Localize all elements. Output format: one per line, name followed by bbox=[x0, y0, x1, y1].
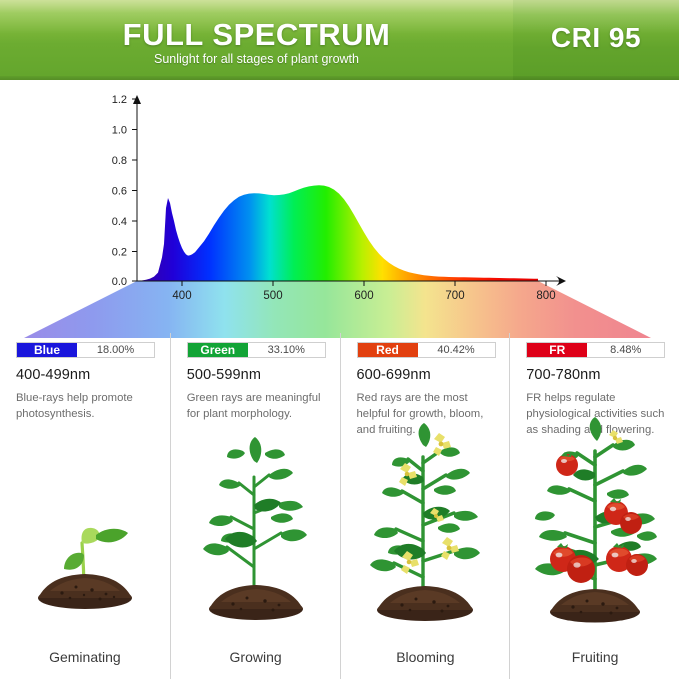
stage-label-blooming: Blooming bbox=[341, 649, 511, 665]
svg-text:0.6: 0.6 bbox=[112, 186, 127, 198]
band-range-red: 600-699nm bbox=[357, 367, 496, 383]
tomato-plant-icon bbox=[510, 417, 679, 632]
spectrum-fan bbox=[24, 281, 651, 338]
band-name-green: Green bbox=[188, 343, 248, 357]
spectrum-chart-svg: 0.0 0.2 0.4 0.6 0.8 1.0 1.2 400 500 600 … bbox=[0, 80, 679, 338]
svg-text:1.2: 1.2 bbox=[112, 94, 127, 106]
band-percent-blue: 18.00% bbox=[77, 343, 154, 357]
svg-text:1.0: 1.0 bbox=[112, 125, 127, 137]
svg-text:0.2: 0.2 bbox=[112, 247, 127, 259]
band-card-red[interactable]: Red 40.42% 600-699nm Red rays are the mo… bbox=[340, 333, 510, 679]
stage-label-fruiting: Fruiting bbox=[510, 649, 679, 665]
spectrum-curve-fill bbox=[137, 100, 539, 282]
svg-text:0.0: 0.0 bbox=[112, 276, 127, 288]
svg-text:0.8: 0.8 bbox=[112, 155, 127, 167]
svg-text:700: 700 bbox=[445, 290, 464, 302]
status-badge: FR 8.48% bbox=[526, 342, 665, 358]
band-percent-red: 40.42% bbox=[418, 343, 495, 357]
svg-text:600: 600 bbox=[354, 290, 373, 302]
svg-text:500: 500 bbox=[263, 290, 282, 302]
spectrum-band-cards: Blue 18.00% 400-499nm Blue-rays help pro… bbox=[0, 333, 679, 679]
header-banner: FULL SPECTRUM Sunlight for all stages of… bbox=[0, 0, 679, 80]
band-range-blue: 400-499nm bbox=[16, 367, 156, 383]
band-card-green[interactable]: Green 33.10% 500-599nm Green rays are me… bbox=[170, 333, 340, 679]
band-percent-green: 33.10% bbox=[248, 343, 325, 357]
page-subtitle: Sunlight for all stages of plant growth bbox=[0, 52, 513, 66]
status-badge: Green 33.10% bbox=[187, 342, 326, 358]
svg-text:0.4: 0.4 bbox=[112, 216, 127, 228]
flowering-plant-icon bbox=[341, 417, 511, 632]
status-badge: Red 40.42% bbox=[357, 342, 496, 358]
svg-text:800: 800 bbox=[536, 290, 555, 302]
stage-label-growing: Growing bbox=[171, 649, 341, 665]
band-range-fr: 700-780nm bbox=[526, 367, 665, 383]
sprout-icon bbox=[0, 417, 170, 632]
band-card-blue[interactable]: Blue 18.00% 400-499nm Blue-rays help pro… bbox=[0, 333, 170, 679]
band-range-green: 500-599nm bbox=[187, 367, 326, 383]
band-name-red: Red bbox=[358, 343, 418, 357]
y-axis-tick-labels: 0.0 0.2 0.4 0.6 0.8 1.0 1.2 bbox=[112, 94, 127, 288]
band-percent-fr: 8.48% bbox=[587, 343, 664, 357]
status-badge: Blue 18.00% bbox=[16, 342, 155, 358]
leafy-plant-icon bbox=[171, 417, 341, 632]
y-axis bbox=[132, 95, 141, 281]
cri-rating-label: CRI 95 bbox=[513, 22, 679, 54]
spectrum-chart: 0.0 0.2 0.4 0.6 0.8 1.0 1.2 400 500 600 … bbox=[0, 80, 679, 338]
band-name-fr: FR bbox=[527, 343, 587, 357]
stage-label-geminating: Geminating bbox=[0, 649, 170, 665]
band-card-fr[interactable]: FR 8.48% 700-780nm FR helps regulate phy… bbox=[509, 333, 679, 679]
svg-text:400: 400 bbox=[172, 290, 191, 302]
page-title: FULL SPECTRUM bbox=[0, 17, 513, 53]
band-name-blue: Blue bbox=[17, 343, 77, 357]
